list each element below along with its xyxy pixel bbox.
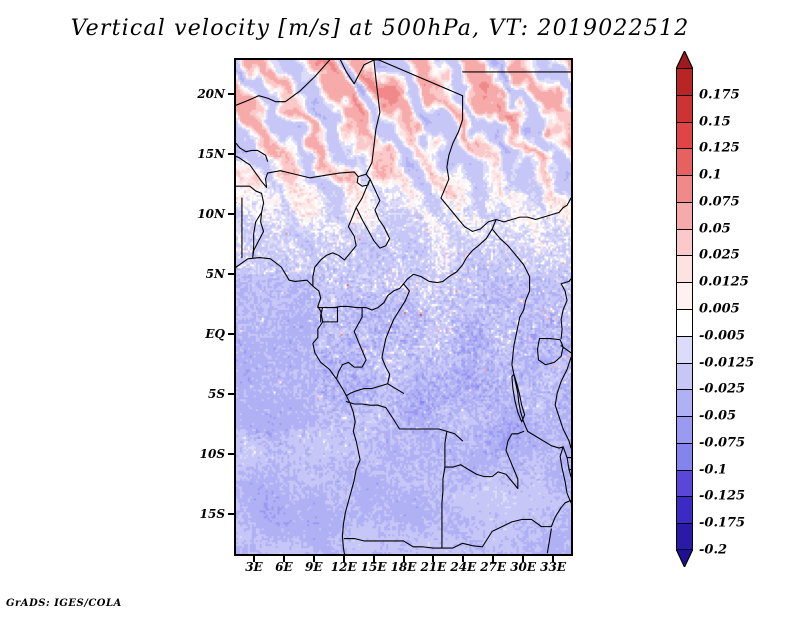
x-axis-label: 24E: [450, 560, 476, 574]
colorbar-segment: [676, 309, 693, 337]
x-axis-label: 21E: [420, 560, 446, 574]
y-axis-tick-mark: [228, 273, 234, 275]
y-axis-tick-mark: [228, 513, 234, 515]
colorbar-segment: [676, 523, 693, 551]
colorbar-tick-label: 0.075: [699, 194, 740, 209]
colorbar-segment: [676, 229, 693, 257]
x-axis-label: 30E: [510, 560, 536, 574]
x-axis-tick-mark: [492, 556, 494, 562]
x-axis-tick-mark: [253, 556, 255, 562]
x-axis-tick-mark: [552, 556, 554, 562]
colorbar-tick-label: -0.005: [699, 328, 745, 343]
x-axis-label: 3E: [245, 560, 263, 574]
y-axis-tick-mark: [228, 393, 234, 395]
colorbar-segment: [676, 202, 693, 230]
colorbar-segment: [676, 416, 693, 444]
x-axis-tick-mark: [373, 556, 375, 562]
x-axis-label: 9E: [305, 560, 323, 574]
colorbar: [676, 68, 693, 550]
x-axis-tick-mark: [283, 556, 285, 562]
colorbar-tick-label: -0.075: [699, 435, 745, 450]
colorbar-tick-label: 0.175: [699, 87, 740, 102]
colorbar-segment: [676, 95, 693, 123]
x-axis-tick-mark: [313, 556, 315, 562]
colorbar-segment: [676, 496, 693, 524]
y-axis-tick-mark: [228, 153, 234, 155]
colorbar-tick-label: -0.175: [699, 516, 745, 531]
y-axis-tick-mark: [228, 333, 234, 335]
y-axis-label: 15S: [200, 507, 225, 521]
colorbar-segment: [676, 443, 693, 471]
x-axis-tick-mark: [343, 556, 345, 562]
colorbar-segment: [676, 470, 693, 498]
grads-credit: GrADS: IGES/COLA: [6, 598, 122, 609]
colorbar-tick-label: 0.025: [699, 248, 740, 263]
colorbar-min-arrow: [676, 549, 693, 567]
colorbar-tick-label: 0.125: [699, 141, 740, 156]
x-axis-label: 27E: [480, 560, 506, 574]
colorbar-segment: [676, 148, 693, 176]
colorbar-tick-label: -0.05: [699, 409, 736, 424]
colorbar-tick-label: -0.2: [699, 543, 727, 558]
colorbar-tick-label: 0.1: [699, 168, 722, 183]
x-axis-label: 6E: [275, 560, 293, 574]
y-axis-label: 15N: [197, 147, 225, 161]
map-plot-area: [234, 58, 573, 556]
x-axis-label: 33E: [540, 560, 566, 574]
colorbar-segment: [676, 363, 693, 391]
y-axis-tick-mark: [228, 213, 234, 215]
colorbar-segment: [676, 175, 693, 203]
x-axis-label: 15E: [361, 560, 387, 574]
colorbar-segment: [676, 68, 693, 96]
y-axis-label: 5S: [208, 387, 225, 401]
x-axis-tick-mark: [432, 556, 434, 562]
colorbar-tick-label: 0.0125: [699, 275, 749, 290]
colorbar-segment: [676, 282, 693, 310]
y-axis-label: 20N: [197, 87, 225, 101]
country-borders-overlay: [236, 60, 571, 554]
colorbar-tick-label: 0.005: [699, 302, 740, 317]
y-axis-tick-mark: [228, 93, 234, 95]
colorbar-segment: [676, 122, 693, 150]
x-axis-tick-mark: [403, 556, 405, 562]
y-axis-label: EQ: [205, 327, 225, 341]
colorbar-tick-label: -0.1: [699, 462, 727, 477]
x-axis-label: 12E: [331, 560, 357, 574]
colorbar-segment: [676, 389, 693, 417]
y-axis-label: 10S: [200, 447, 225, 461]
colorbar-max-arrow: [676, 51, 693, 69]
y-axis-label: 10N: [197, 207, 225, 221]
colorbar-tick-label: 0.15: [699, 114, 731, 129]
page-title: Vertical velocity [m/s] at 500hPa, VT: 2…: [0, 16, 760, 41]
x-axis-tick-mark: [462, 556, 464, 562]
x-axis-tick-mark: [522, 556, 524, 562]
colorbar-segment: [676, 255, 693, 283]
colorbar-tick-label: -0.0125: [699, 355, 754, 370]
colorbar-tick-label: 0.05: [699, 221, 731, 236]
x-axis-label: 18E: [391, 560, 417, 574]
colorbar-tick-label: -0.025: [699, 382, 745, 397]
colorbar-tick-label: -0.125: [699, 489, 745, 504]
y-axis-label: 5N: [206, 267, 225, 281]
colorbar-segment: [676, 336, 693, 364]
y-axis-tick-mark: [228, 453, 234, 455]
